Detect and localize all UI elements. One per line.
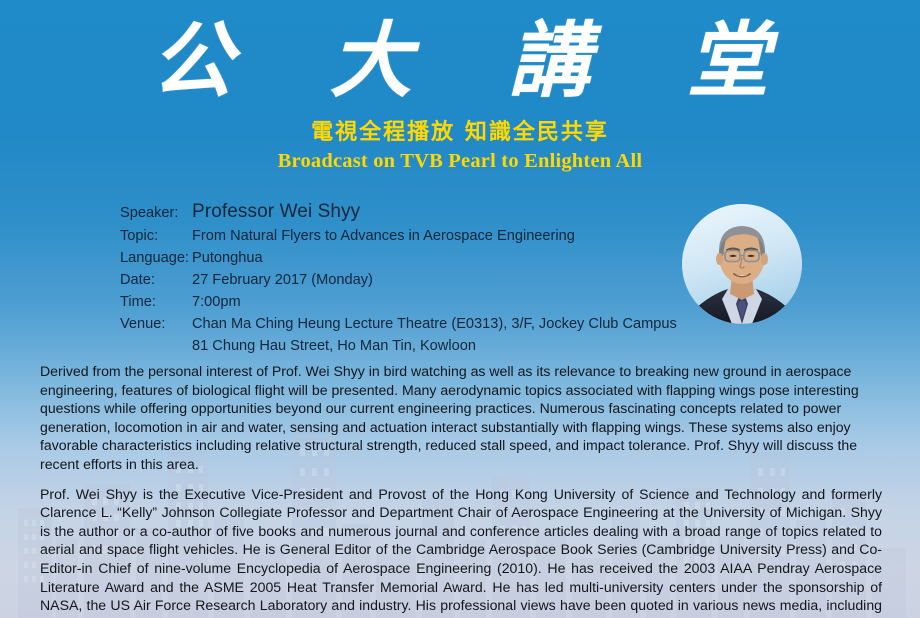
- detail-value-venue-line2: 81 Chung Hau Street, Ho Man Tin, Kowloon: [192, 336, 680, 356]
- detail-label-venue: Venue:: [120, 314, 192, 334]
- event-details: Speaker: Professor Wei Shyy Topic: From …: [120, 200, 680, 356]
- detail-value-language: Putonghua: [192, 248, 263, 268]
- detail-row-date: Date: 27 February 2017 (Monday): [120, 270, 680, 290]
- detail-label-language: Language:: [120, 248, 192, 268]
- detail-value-date: 27 February 2017 (Monday): [192, 270, 373, 290]
- detail-label-date: Date:: [120, 270, 192, 290]
- speaker-portrait: [682, 204, 802, 324]
- detail-value-topic: From Natural Flyers to Advances in Aeros…: [192, 226, 575, 246]
- detail-value-venue: Chan Ma Ching Heung Lecture Theatre (E03…: [192, 314, 677, 334]
- detail-label-speaker: Speaker:: [120, 203, 192, 223]
- chinese-title: 公 大 講 堂: [0, 18, 920, 105]
- detail-label-time: Time:: [120, 292, 192, 312]
- detail-value-time: 7:00pm: [192, 292, 241, 312]
- detail-row-speaker: Speaker: Professor Wei Shyy: [120, 200, 680, 224]
- poster-root: 公 大 講 堂 電視全程播放 知識全民共享 Broadcast on TVB P…: [0, 0, 920, 618]
- detail-row-time: Time: 7:00pm: [120, 292, 680, 312]
- biography-part1: Prof. Wei Shyy is the Executive Vice-Pre…: [40, 486, 882, 618]
- biography-paragraph: Prof. Wei Shyy is the Executive Vice-Pre…: [40, 485, 882, 618]
- english-subtitle: Broadcast on TVB Pearl to Enlighten All: [0, 150, 920, 173]
- chinese-subtitle: 電視全程播放 知識全民共享: [0, 114, 920, 146]
- abstract-paragraph: Derived from the personal interest of Pr…: [40, 362, 882, 474]
- poster-header: 公 大 講 堂 電視全程播放 知識全民共享 Broadcast on TVB P…: [0, 18, 920, 173]
- detail-value-speaker: Professor Wei Shyy: [192, 200, 360, 224]
- poster-body: Derived from the personal interest of Pr…: [40, 362, 882, 618]
- detail-row-venue: Venue: Chan Ma Ching Heung Lecture Theat…: [120, 314, 680, 334]
- detail-row-topic: Topic: From Natural Flyers to Advances i…: [120, 226, 680, 246]
- detail-row-language: Language: Putonghua: [120, 248, 680, 268]
- detail-label-topic: Topic:: [120, 226, 192, 246]
